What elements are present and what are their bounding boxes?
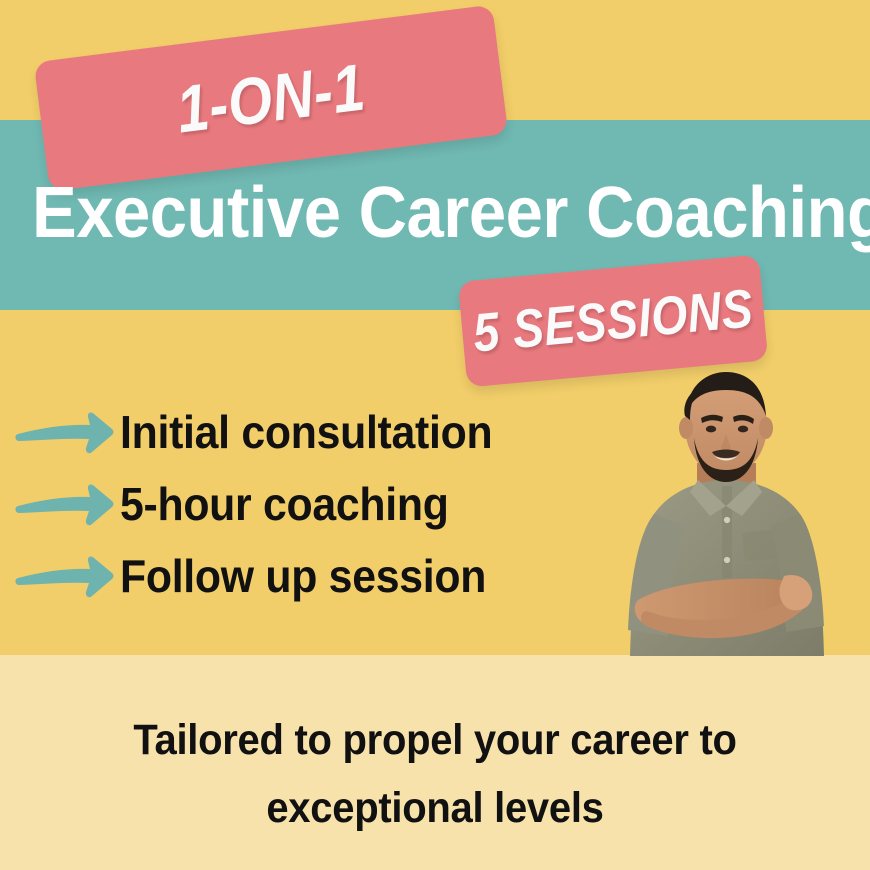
promo-poster: 1-ON-1 Executive Career Coaching 5 SESSI… (0, 0, 870, 870)
arrow-right-icon (14, 408, 116, 456)
feature-row: 5-hour coaching (14, 468, 614, 540)
feature-label: Follow up session (120, 549, 486, 603)
badge-one-on-one-label: 1-ON-1 (173, 48, 370, 147)
page-title: Executive Career Coaching (32, 176, 785, 250)
person-portrait-photo (602, 368, 852, 656)
arrow-right-icon (14, 480, 116, 528)
tagline: Tailored to propel your career to except… (0, 706, 870, 842)
feature-row: Follow up session (14, 540, 614, 612)
person-portrait-icon (602, 368, 852, 656)
tagline-line-2: exceptional levels (30, 774, 839, 842)
badge-sessions-label: 5 SESSIONS (471, 277, 756, 364)
feature-row: Initial consultation (14, 396, 614, 468)
feature-list: Initial consultation 5-hour coaching Fol… (14, 396, 614, 612)
tagline-line-1: Tailored to propel your career to (30, 706, 839, 774)
feature-label: Initial consultation (120, 405, 492, 459)
feature-label: 5-hour coaching (120, 477, 449, 531)
arrow-right-icon (14, 552, 116, 600)
